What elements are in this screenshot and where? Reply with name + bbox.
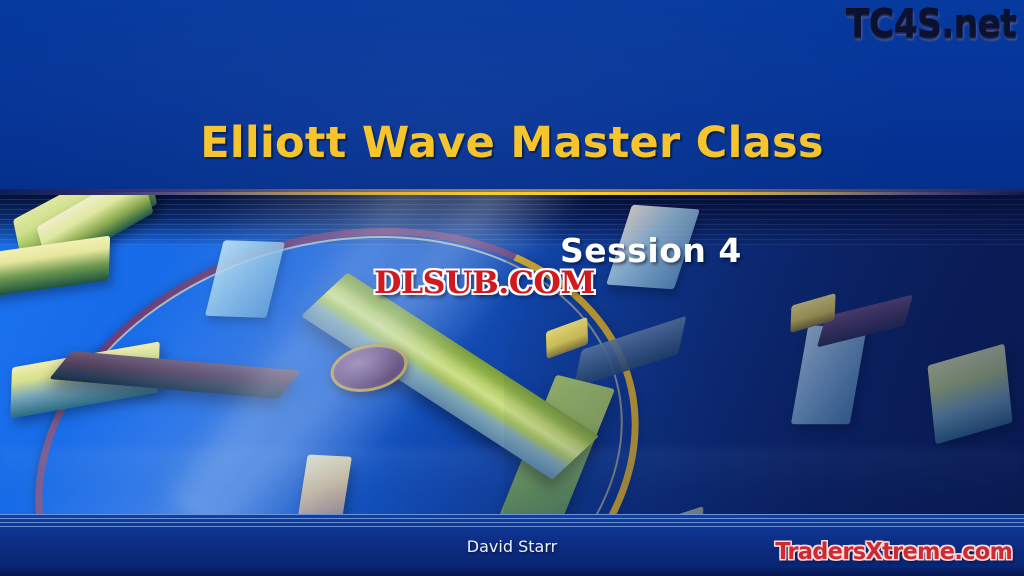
watermark-tc4s: TC4S.net: [846, 2, 1016, 46]
artwork-panel: [0, 195, 1024, 576]
watermark-tradersxtreme: TradersXtreme.com: [775, 539, 1012, 565]
footer-edge-shade: [0, 566, 1024, 576]
watermark-dlsub: DLSUB.COM: [374, 265, 595, 301]
page-title: Elliott Wave Master Class: [0, 118, 1024, 168]
footer-stripes-icon: [0, 514, 1024, 528]
presentation-slide: Elliott Wave Master Class: [0, 0, 1024, 576]
